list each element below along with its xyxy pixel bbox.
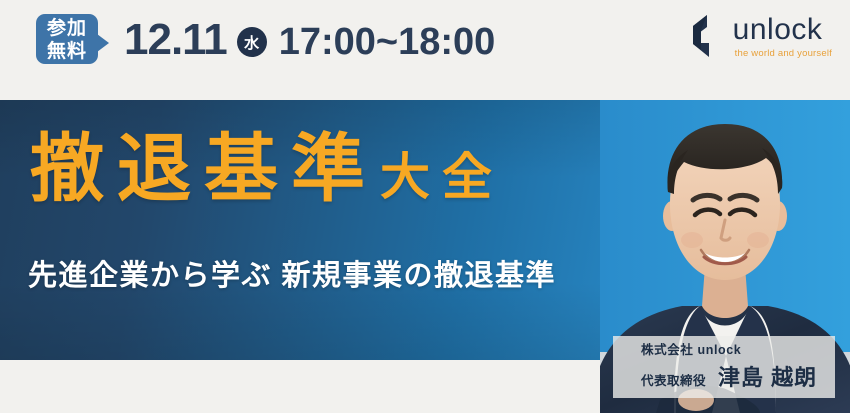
free-badge-line2: 無料 — [47, 40, 87, 63]
speaker-name: 津島 越朗 — [718, 367, 817, 389]
free-participation-badge: 参加 無料 — [36, 14, 98, 64]
webinar-banner: 参加 無料 12.11 水 17:00~18:00 unlock the wor… — [0, 0, 850, 413]
event-time: 17:00~18:00 — [279, 23, 496, 61]
hero-title: 撤退基準 大全 — [30, 132, 504, 206]
unlock-bracket-icon — [681, 14, 723, 60]
speaker-role: 代表取締役 — [641, 375, 706, 388]
logo-wordmark: unlock — [733, 15, 823, 45]
speaker-company: 株式会社 unlock — [641, 344, 821, 357]
banner-header: 参加 無料 12.11 水 17:00~18:00 unlock the wor… — [0, 0, 850, 100]
event-date: 12.11 — [124, 18, 227, 62]
speaker-nameplate: 株式会社 unlock 代表取締役 津島 越朗 — [613, 336, 835, 398]
date-time-group: 参加 無料 12.11 水 17:00~18:00 — [36, 14, 495, 64]
hero-title-sub: 大全 — [380, 152, 504, 202]
day-of-week-badge: 水 — [237, 27, 267, 57]
free-badge-line1: 参加 — [47, 17, 87, 40]
logo-text-block: unlock the world and yourself — [733, 15, 832, 59]
speaker-role-row: 代表取締役 津島 越朗 — [641, 367, 821, 389]
hero-subtitle: 先進企業から学ぶ 新規事業の撤退基準 — [28, 262, 556, 291]
hero-title-main: 撤退基準 — [30, 132, 378, 206]
unlock-logo: unlock the world and yourself — [681, 14, 832, 60]
logo-tagline: the world and yourself — [735, 49, 832, 59]
